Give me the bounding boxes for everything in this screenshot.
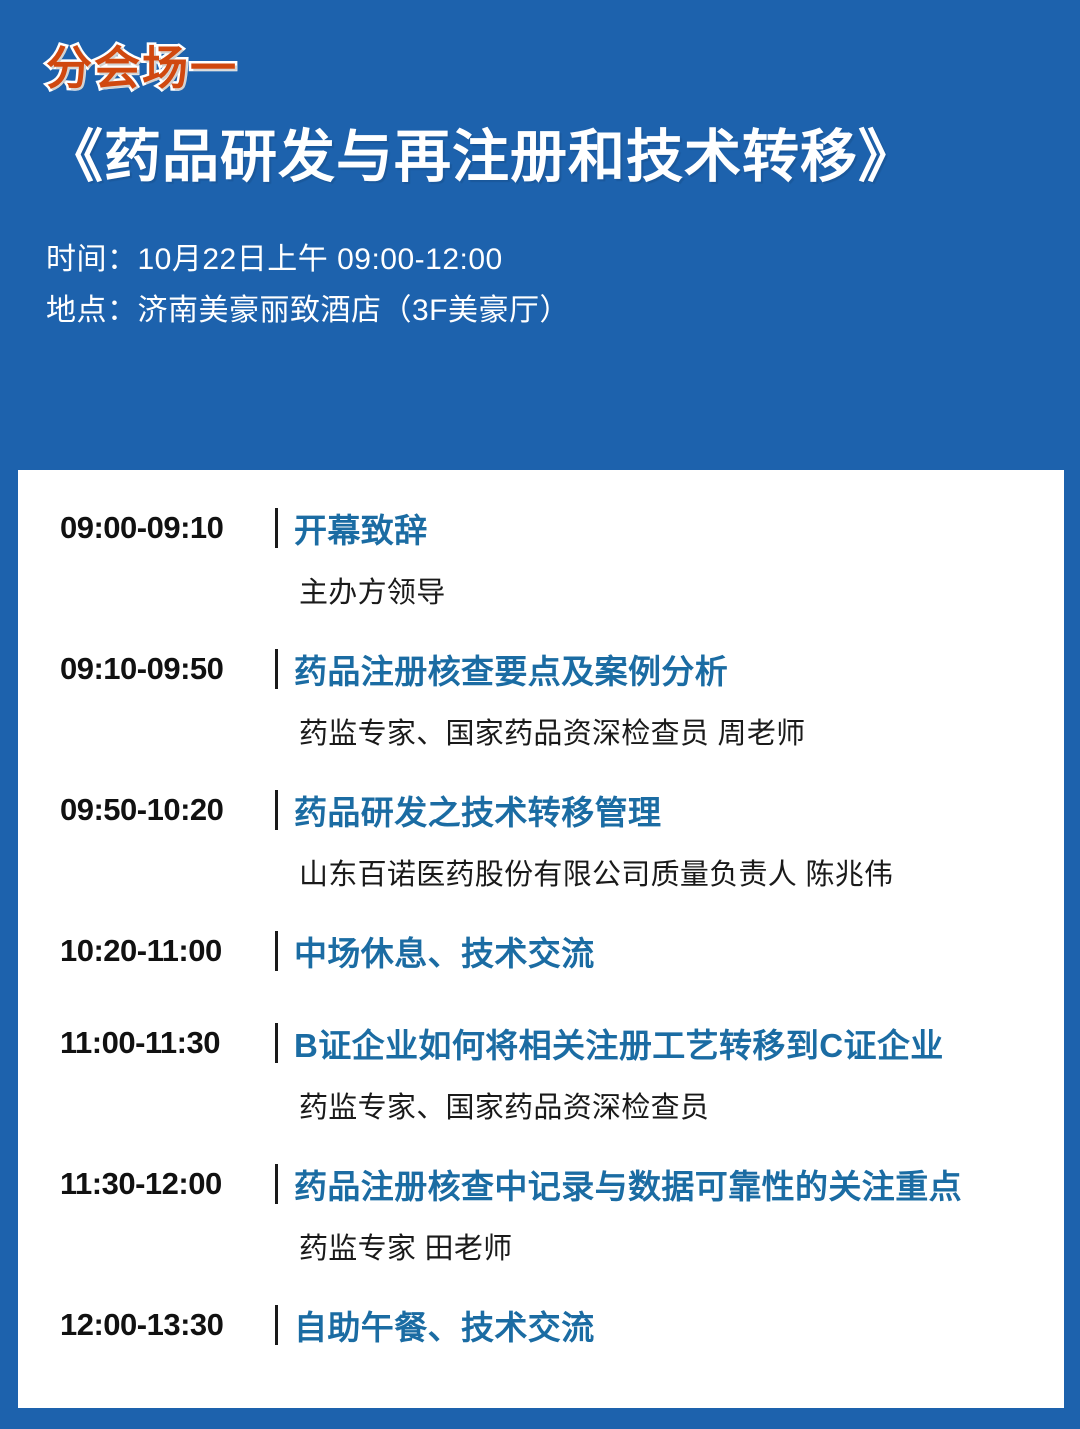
session-topic: 药品注册核查中记录与数据可靠性的关注重点 <box>294 1160 962 1208</box>
session-topic: 自助午餐、技术交流 <box>294 1301 595 1349</box>
session-speaker: 山东百诺医药股份有限公司质量负责人 陈兆伟 <box>299 851 1044 893</box>
session-time: 09:10-09:50 <box>42 651 260 687</box>
session-time: 09:50-10:20 <box>42 792 260 828</box>
session-speaker: 药监专家、国家药品资深检查员 周老师 <box>299 710 1044 752</box>
schedule-list: 09:00-09:10开幕致辞主办方领导09:10-09:50药品注册核查要点及… <box>42 504 1044 1349</box>
schedule-row-main: 10:20-11:00中场休息、技术交流 <box>42 927 1044 975</box>
schedule-row-main: 09:00-09:10开幕致辞 <box>42 504 1044 552</box>
row-divider <box>275 1023 278 1063</box>
poster-canvas: 分会场一 《药品研发与再注册和技术转移》 时间：10月22日上午 09:00-1… <box>0 0 1080 1429</box>
row-divider <box>275 508 278 548</box>
session-topic: B证企业如何将相关注册工艺转移到C证企业 <box>294 1019 944 1067</box>
row-divider <box>275 790 278 830</box>
row-divider <box>275 931 278 971</box>
session-time: 11:00-11:30 <box>42 1025 260 1061</box>
schedule-row: 11:00-11:30B证企业如何将相关注册工艺转移到C证企业药监专家、国家药品… <box>42 1019 1044 1126</box>
schedule-row: 09:10-09:50药品注册核查要点及案例分析药监专家、国家药品资深检查员 周… <box>42 645 1044 752</box>
schedule-card: 09:00-09:10开幕致辞主办方领导09:10-09:50药品注册核查要点及… <box>18 470 1064 1408</box>
schedule-row: 09:00-09:10开幕致辞主办方领导 <box>42 504 1044 611</box>
schedule-row: 11:30-12:00药品注册核查中记录与数据可靠性的关注重点药监专家 田老师 <box>42 1160 1044 1267</box>
schedule-row: 12:00-13:30自助午餐、技术交流 <box>42 1301 1044 1349</box>
schedule-row-main: 11:30-12:00药品注册核查中记录与数据可靠性的关注重点 <box>42 1160 1044 1208</box>
schedule-row-main: 11:00-11:30B证企业如何将相关注册工艺转移到C证企业 <box>42 1019 1044 1067</box>
session-time: 11:30-12:00 <box>42 1166 260 1202</box>
session-time: 09:00-09:10 <box>42 510 260 546</box>
event-venue: 地点：济南美豪丽致酒店（3F美豪厅） <box>46 285 1080 337</box>
page-title: 《药品研发与再注册和技术转移》 <box>46 124 1080 191</box>
session-speaker: 药监专家、国家药品资深检查员 <box>299 1084 1044 1126</box>
poster-header: 分会场一 《药品研发与再注册和技术转移》 时间：10月22日上午 09:00-1… <box>0 0 1080 337</box>
row-divider <box>275 1305 278 1345</box>
session-kicker: 分会场一 <box>46 44 238 92</box>
schedule-row: 09:50-10:20药品研发之技术转移管理山东百诺医药股份有限公司质量负责人 … <box>42 786 1044 893</box>
row-divider <box>275 1164 278 1204</box>
session-topic: 中场休息、技术交流 <box>294 927 595 975</box>
schedule-row-main: 09:50-10:20药品研发之技术转移管理 <box>42 786 1044 834</box>
session-topic: 药品研发之技术转移管理 <box>294 786 661 834</box>
session-topic: 开幕致辞 <box>294 504 428 552</box>
session-speaker: 主办方领导 <box>299 569 1044 611</box>
session-topic: 药品注册核查要点及案例分析 <box>294 645 728 693</box>
event-meta: 时间：10月22日上午 09:00-12:00 地点：济南美豪丽致酒店（3F美豪… <box>46 234 1080 337</box>
schedule-row-main: 12:00-13:30自助午餐、技术交流 <box>42 1301 1044 1349</box>
schedule-row-main: 09:10-09:50药品注册核查要点及案例分析 <box>42 645 1044 693</box>
session-time: 12:00-13:30 <box>42 1307 260 1343</box>
schedule-row: 10:20-11:00中场休息、技术交流 <box>42 927 1044 975</box>
session-speaker: 药监专家 田老师 <box>299 1225 1044 1267</box>
session-time: 10:20-11:00 <box>42 933 260 969</box>
row-divider <box>275 649 278 689</box>
event-time: 时间：10月22日上午 09:00-12:00 <box>46 234 1080 286</box>
